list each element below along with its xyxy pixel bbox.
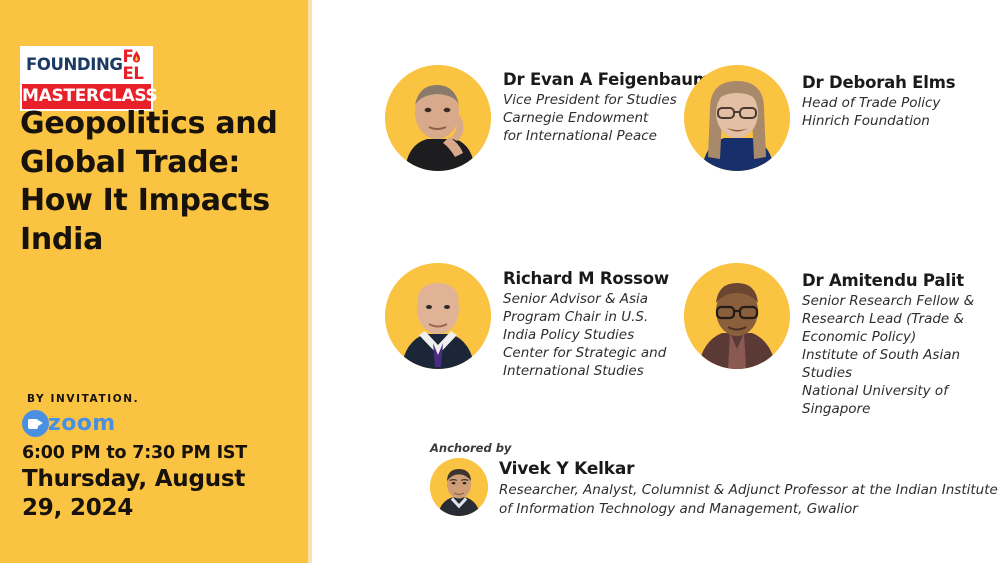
brand-fuel-el: EL bbox=[123, 64, 144, 83]
by-invitation-label: BY INVITATION. bbox=[27, 393, 139, 405]
event-time: 6:00 PM to 7:30 PM IST bbox=[22, 443, 247, 463]
avatar bbox=[385, 65, 491, 171]
zoom-logo: zoom bbox=[22, 410, 116, 437]
speaker-role: Vice President for Studies Carnegie Endo… bbox=[503, 92, 710, 146]
anchor-card: Vivek Y Kelkar Researcher, Analyst, Colu… bbox=[430, 458, 998, 518]
video-camera-icon bbox=[22, 410, 49, 437]
flame-icon bbox=[133, 51, 140, 64]
speaker-role: Senior Research Fellow & Research Lead (… bbox=[802, 293, 1000, 419]
page-title: Geopolitics and Global Trade: How It Imp… bbox=[20, 105, 295, 260]
anchor-role: Researcher, Analyst, Columnist & Adjunct… bbox=[499, 481, 998, 518]
speaker-card: Dr Amitendu Palit Senior Research Fellow… bbox=[684, 263, 1000, 419]
brand-fuel-text: FEL bbox=[123, 49, 148, 82]
event-date: Thursday, August 29, 2024 bbox=[22, 465, 292, 523]
speaker-name: Dr Deborah Elms bbox=[802, 73, 955, 92]
zoom-wordmark: zoom bbox=[48, 411, 116, 436]
avatar bbox=[684, 263, 790, 369]
speaker-card: Richard M Rossow Senior Advisor & Asia P… bbox=[385, 263, 669, 381]
webinar-poster: FOUNDINGFEL MASTERCLASS Geopolitics and … bbox=[0, 0, 1000, 563]
founding-fuel-masterclass-logo: FOUNDINGFEL MASTERCLASS bbox=[20, 46, 153, 111]
avatar bbox=[385, 263, 491, 369]
brand-founding-text: FOUNDING bbox=[26, 57, 123, 74]
speaker-card: Dr Deborah Elms Head of Trade Policy Hin… bbox=[684, 65, 955, 171]
speaker-role: Senior Advisor & Asia Program Chair in U… bbox=[503, 291, 669, 381]
speaker-card: Dr Evan A Feigenbaum Vice President for … bbox=[385, 65, 710, 171]
founding-fuel-wordmark: FOUNDINGFEL bbox=[20, 46, 153, 84]
speaker-name: Richard M Rossow bbox=[503, 269, 669, 288]
anchored-by-label: Anchored by bbox=[430, 441, 511, 455]
avatar bbox=[684, 65, 790, 171]
masterclass-text: MASTERCLASS bbox=[22, 86, 158, 106]
anchor-name: Vivek Y Kelkar bbox=[499, 460, 998, 480]
panel-divider bbox=[308, 0, 312, 563]
speaker-role: Head of Trade Policy Hinrich Foundation bbox=[802, 95, 955, 131]
speaker-name: Dr Evan A Feigenbaum bbox=[503, 70, 710, 89]
avatar bbox=[430, 458, 488, 516]
speaker-name: Dr Amitendu Palit bbox=[802, 271, 1000, 290]
